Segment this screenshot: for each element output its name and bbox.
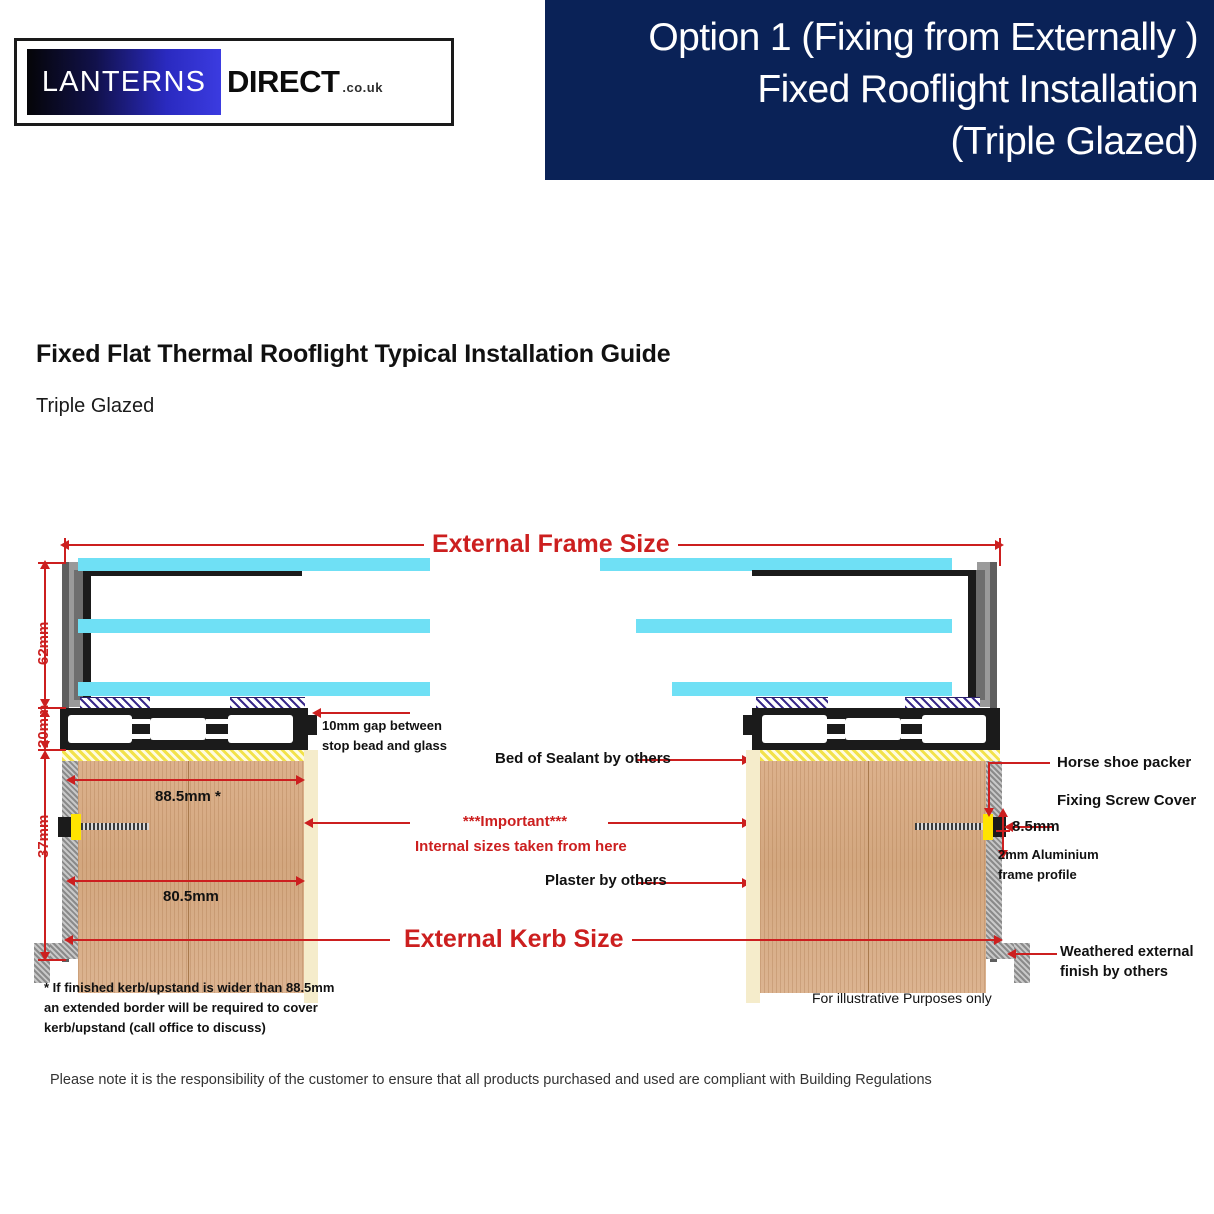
dim-8-5mm-arrow-top: [998, 808, 1008, 817]
left-frame-chamber-inner: [228, 715, 293, 743]
dim-88-5mm-line: [72, 779, 300, 781]
horse-shoe-callout-drop: [988, 762, 990, 814]
stop-bead-callout-label: 10mm gap between stop bead and glass: [322, 716, 512, 756]
logo-wordmark: DIRECT .co.uk: [227, 64, 383, 100]
left-thermal-break-top: [132, 719, 150, 724]
aluminium-profile-callout-label: 2mm Aluminium frame profile: [998, 845, 1158, 885]
left-thermal-break-top2: [206, 719, 228, 724]
lanterns-direct-logo: LANTERNS DIRECT .co.uk: [14, 38, 454, 126]
right-fixing-screw: [915, 823, 983, 830]
dim-62mm-label: 62mm: [35, 622, 52, 665]
dim-88-5mm-label: 88.5mm *: [155, 788, 221, 805]
banner-line-1: Option 1 (Fixing from Externally ): [545, 12, 1198, 64]
illustrative-purposes-note: For illustrative Purposes only: [812, 990, 992, 1006]
left-horse-shoe-packer: [71, 814, 81, 840]
logo-lanterns-text: LANTERNS: [42, 66, 206, 99]
left-sealant-bed: [62, 750, 310, 761]
left-weathered-finish-corner: [34, 943, 50, 983]
dim-80-5mm-arrow-left: [66, 876, 75, 886]
left-thermal-break-bottom2: [206, 734, 228, 739]
right-horse-shoe-packer: [983, 814, 993, 840]
important-callout-arrow-left: [304, 818, 313, 828]
horse-shoe-callout-arrow-down: [984, 808, 994, 817]
important-callout-body: Internal sizes taken from here: [415, 838, 615, 855]
frame-size-dim-line-right: [655, 544, 1000, 546]
dim-8-5mm-tick: [996, 830, 1010, 832]
right-plaster-strip: [746, 750, 760, 1003]
banner-line-2: Fixed Rooflight Installation: [545, 64, 1198, 116]
page-subtitle: Triple Glazed: [36, 395, 154, 418]
weathered-callout-line: [1015, 953, 1057, 955]
logo-direct-text: DIRECT: [227, 64, 339, 100]
left-plaster-strip: [304, 750, 318, 1003]
left-frame-chamber-centre: [150, 718, 206, 740]
left-glass-pane-middle: [78, 619, 430, 633]
right-kerb-timber-joint: [868, 761, 869, 993]
right-weathered-finish-corner: [1014, 943, 1030, 983]
external-kerb-size-label: External Kerb Size: [396, 925, 632, 954]
page-header: LANTERNS DIRECT .co.uk Option 1 (Fixing …: [0, 0, 1214, 190]
left-glass-pane-inner: [78, 682, 430, 696]
stop-bead-callout-arrow: [312, 708, 321, 718]
left-thermal-break-bottom: [132, 734, 150, 739]
horse-shoe-callout-label: Horse shoe packer: [1057, 754, 1191, 771]
right-sealant-bed: [752, 750, 1000, 761]
weathered-callout-arrow: [1007, 949, 1016, 959]
right-frame-black-top-rail: [752, 570, 976, 576]
horse-shoe-callout-line: [988, 762, 1050, 764]
frame-size-tick-right: [999, 538, 1001, 566]
left-frame-chamber-outer: [68, 715, 132, 743]
page-title: Fixed Flat Thermal Rooflight Typical Ins…: [36, 340, 670, 369]
right-glass-pane-middle: [636, 619, 952, 633]
right-frame-inner-grey: [976, 570, 985, 700]
right-thermal-break-bottom2: [901, 734, 922, 739]
kerb-size-dim-line-right: [610, 939, 998, 941]
dim-37mm-arrow-top: [40, 750, 50, 759]
building-regulations-disclaimer: Please note it is the responsibility of …: [50, 1072, 932, 1088]
dim-80-5mm-line: [72, 880, 300, 882]
logo-gradient-block: LANTERNS: [27, 49, 221, 115]
dim-88-5mm-arrow-left: [66, 775, 75, 785]
fixing-screw-callout-label: Fixing Screw Cover: [1057, 792, 1196, 809]
dim-80-5mm-label: 80.5mm: [163, 888, 219, 905]
sealant-callout-label: Bed of Sealant by others: [495, 750, 671, 767]
left-fixing-screw: [81, 823, 149, 830]
banner-line-3: (Triple Glazed): [545, 116, 1198, 168]
stop-bead-callout-line: [318, 712, 410, 714]
left-weathered-finish-vertical: [62, 761, 78, 959]
right-frame-chamber-centre: [845, 718, 901, 740]
right-thermal-break-bottom: [827, 734, 845, 739]
dim-20mm-label: 20mm: [35, 705, 52, 748]
kerb-size-arrow-right: [994, 935, 1003, 945]
right-stop-bead: [743, 715, 760, 735]
dim-37mm-tick-bottom: [38, 959, 66, 961]
dim-88-5mm-arrow-right: [296, 775, 305, 785]
kerb-size-dim-line-left: [70, 939, 390, 941]
right-frame-black-upright: [968, 570, 976, 700]
right-frame-chamber-outer: [922, 715, 986, 743]
weathered-callout-label: Weathered external finish by others: [1060, 942, 1214, 982]
dim-37mm-label: 37mm: [35, 815, 52, 858]
left-fixing-screw-cover: [58, 817, 71, 837]
important-callout-line-right: [608, 822, 746, 824]
left-glass-pane-outer: [78, 558, 430, 571]
plaster-callout-label: Plaster by others: [545, 872, 667, 889]
right-thermal-break-top: [827, 719, 845, 724]
kerb-width-footnote: * If finished kerb/upstand is wider than…: [44, 978, 384, 1038]
right-thermal-break-top2: [901, 719, 922, 724]
left-frame-black-upright: [83, 570, 91, 700]
important-callout-line-left: [310, 822, 410, 824]
important-callout-title: ***Important***: [425, 813, 605, 830]
title-banner: Option 1 (Fixing from Externally ) Fixed…: [545, 0, 1214, 180]
kerb-size-arrow-left: [64, 935, 73, 945]
frame-size-dim-line-left: [64, 544, 424, 546]
installation-cross-section-diagram: External Frame Size: [0, 500, 1214, 1060]
right-kerb-timber: [760, 761, 986, 993]
installation-guide-page: LANTERNS DIRECT .co.uk Option 1 (Fixing …: [0, 0, 1214, 1214]
left-stop-bead: [300, 715, 317, 735]
dim-8-5mm-label: 8.5mm: [1012, 818, 1060, 835]
left-frame-inner-grey: [74, 570, 83, 700]
external-frame-size-label: External Frame Size: [424, 530, 678, 559]
logo-tld-text: .co.uk: [342, 80, 383, 95]
dim-80-5mm-arrow-right: [296, 876, 305, 886]
right-glass-pane-inner: [672, 682, 952, 696]
dim-62mm-tick-top: [38, 562, 66, 564]
right-frame-chamber-inner: [762, 715, 827, 743]
